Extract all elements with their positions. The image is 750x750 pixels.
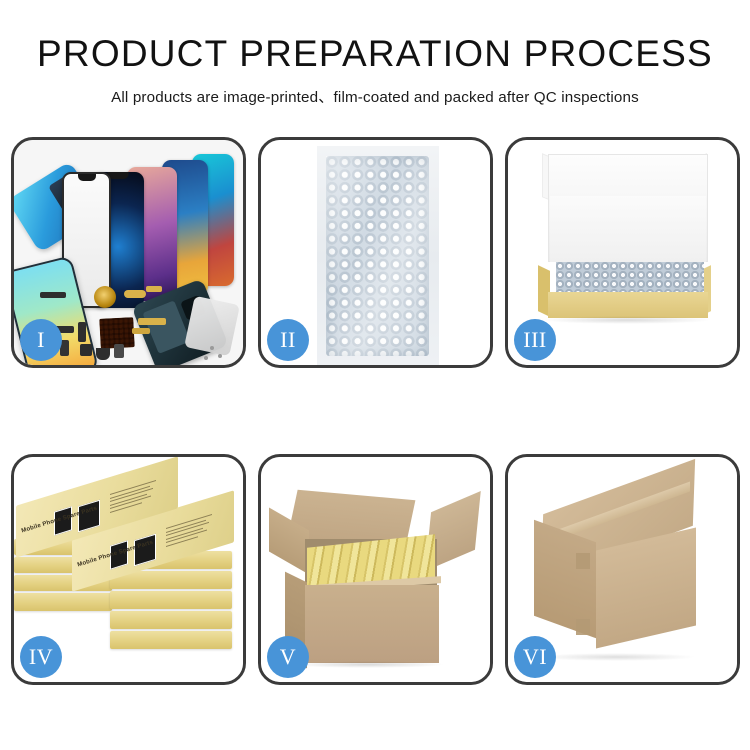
part-chip-1-icon — [40, 292, 66, 298]
speaker-coil-part-icon — [94, 286, 116, 308]
sealed-carton-tape-patch-top — [576, 553, 590, 569]
step-badge-3: III — [514, 319, 556, 361]
step-panel-2: II — [258, 137, 493, 368]
carton-shadow — [289, 661, 445, 668]
screw-2-icon — [218, 354, 222, 358]
step-panel-4: Mobile Phone Spare Parts Mobile Phone Sp… — [11, 454, 246, 685]
step-badge-2: II — [267, 319, 309, 361]
phone-notch-icon — [78, 174, 96, 181]
box-bubble-wrapped-content — [556, 262, 704, 294]
retail-box-side-4 — [14, 593, 112, 611]
part-chip-6-icon — [114, 344, 124, 358]
box-shadow — [542, 316, 712, 324]
retail-box-front-5 — [110, 631, 232, 649]
box-kraft-front — [548, 292, 708, 318]
sealed-carton-tape-patch-bottom — [576, 619, 590, 635]
sealed-carton-shadow — [536, 653, 696, 661]
step-badge-4: IV — [20, 636, 62, 678]
flex-cable-3-icon — [132, 328, 150, 334]
part-chip-5-icon — [96, 348, 110, 360]
carton-front-face — [305, 585, 439, 663]
step-panel-3: III — [505, 137, 740, 368]
part-chip-4-icon — [80, 344, 92, 356]
box-foam-sheet — [550, 196, 706, 262]
page-header: PRODUCT PREPARATION PROCESS All products… — [0, 0, 750, 107]
step-panel-6: VI — [505, 454, 740, 685]
page-title: PRODUCT PREPARATION PROCESS — [0, 32, 750, 76]
step-badge-6: VI — [514, 636, 556, 678]
step-panel-1: I — [11, 137, 246, 368]
step-badge-5: V — [267, 636, 309, 678]
retail-box-front-4 — [110, 611, 232, 629]
part-chip-7-icon — [78, 322, 86, 342]
screw-1-icon — [210, 346, 214, 350]
retail-box-front-3 — [110, 591, 232, 609]
bubble-wrap-gloss — [326, 156, 429, 356]
step-badge-1: I — [20, 319, 62, 361]
process-steps-grid: I II III — [11, 137, 739, 685]
flex-cable-2-icon — [138, 318, 166, 325]
flex-cable-4-icon — [146, 286, 162, 292]
step-panel-5: V — [258, 454, 493, 685]
page-subtitle: All products are image-printed、film-coat… — [0, 85, 750, 107]
screw-3-icon — [204, 356, 208, 360]
flex-cable-1-icon — [124, 290, 146, 298]
